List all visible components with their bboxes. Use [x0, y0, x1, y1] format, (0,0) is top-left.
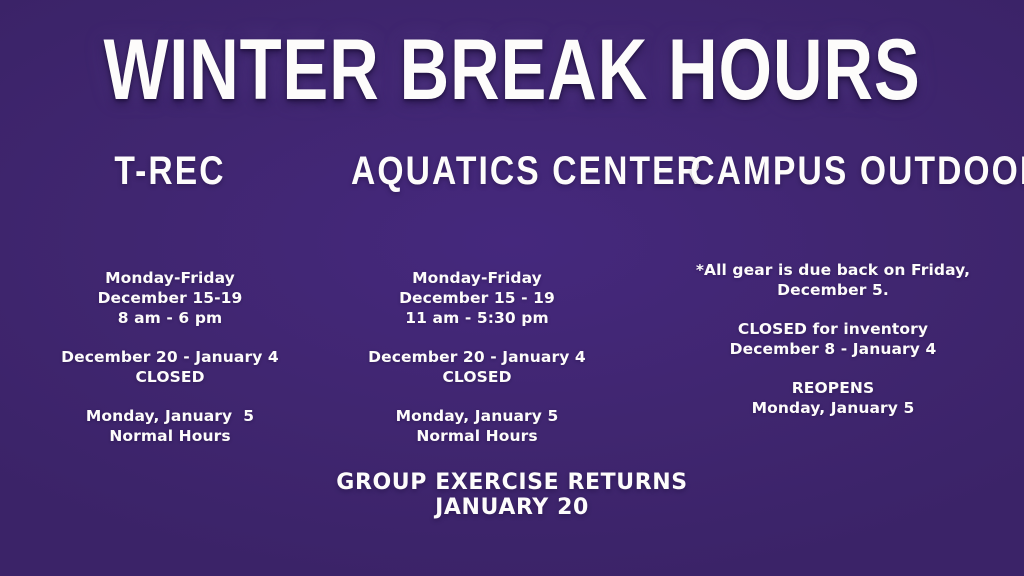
- hours-line: Monday, January 5: [663, 398, 1003, 418]
- hours-columns: T-REC Monday-Friday December 15-19 8 am …: [0, 150, 1024, 430]
- footer-line-1: GROUP EXERCISE RETURNS: [0, 470, 1024, 495]
- footer-announcement: GROUP EXERCISE RETURNS JANUARY 20: [0, 470, 1024, 520]
- hours-line: Normal Hours: [20, 426, 320, 446]
- hours-line: Monday-Friday: [20, 268, 320, 288]
- column-heading-t-rec: T-REC: [44, 150, 296, 192]
- column-aquatics-center: AQUATICS CENTER Monday-Friday December 1…: [327, 150, 627, 446]
- hours-line: Monday, January 5: [327, 406, 627, 426]
- hours-line: REOPENS: [663, 378, 1003, 398]
- winter-break-hours-poster: WINTER BREAK HOURS T-REC Monday-Friday D…: [0, 0, 1024, 576]
- column-body-aquatics-center: Monday-Friday December 15 - 19 11 am - 5…: [327, 192, 627, 446]
- hours-line: December 15 - 19: [327, 288, 627, 308]
- hours-line: CLOSED: [20, 367, 320, 387]
- hours-block: REOPENS Monday, January 5: [663, 378, 1003, 418]
- hours-block: CLOSED for inventory December 8 - Januar…: [663, 319, 1003, 359]
- footer-line-2: JANUARY 20: [0, 495, 1024, 520]
- hours-block: *All gear is due back on Friday, Decembe…: [663, 260, 1003, 300]
- column-campus-outdoors: CAMPUS OUTDOORS *All gear is due back on…: [663, 150, 1003, 418]
- hours-line: Monday, January 5: [20, 406, 320, 426]
- column-body-t-rec: Monday-Friday December 15-19 8 am - 6 pm…: [20, 192, 320, 446]
- column-t-rec: T-REC Monday-Friday December 15-19 8 am …: [20, 150, 320, 446]
- hours-line: CLOSED: [327, 367, 627, 387]
- hours-line: December 20 - January 4: [20, 347, 320, 367]
- hours-line: CLOSED for inventory: [663, 319, 1003, 339]
- hours-line: December 20 - January 4: [327, 347, 627, 367]
- hours-line: December 5.: [663, 280, 1003, 300]
- hours-block: December 20 - January 4 CLOSED: [20, 347, 320, 387]
- page-title: WINTER BREAK HOURS: [102, 27, 921, 113]
- column-body-campus-outdoors: *All gear is due back on Friday, Decembe…: [663, 192, 1003, 418]
- hours-line: 8 am - 6 pm: [20, 308, 320, 328]
- hours-line: December 15-19: [20, 288, 320, 308]
- hours-line: *All gear is due back on Friday,: [663, 260, 1003, 280]
- hours-block: December 20 - January 4 CLOSED: [327, 347, 627, 387]
- hours-line: Monday-Friday: [327, 268, 627, 288]
- hours-line: Normal Hours: [327, 426, 627, 446]
- hours-block: Monday-Friday December 15 - 19 11 am - 5…: [327, 268, 627, 328]
- column-heading-aquatics-center: AQUATICS CENTER: [351, 150, 603, 192]
- hours-block: Monday, January 5 Normal Hours: [20, 406, 320, 446]
- hours-block: Monday, January 5 Normal Hours: [327, 406, 627, 446]
- column-heading-campus-outdoors: CAMPUS OUTDOORS: [690, 150, 976, 192]
- hours-line: 11 am - 5:30 pm: [327, 308, 627, 328]
- hours-block: Monday-Friday December 15-19 8 am - 6 pm: [20, 268, 320, 328]
- hours-line: December 8 - January 4: [663, 339, 1003, 359]
